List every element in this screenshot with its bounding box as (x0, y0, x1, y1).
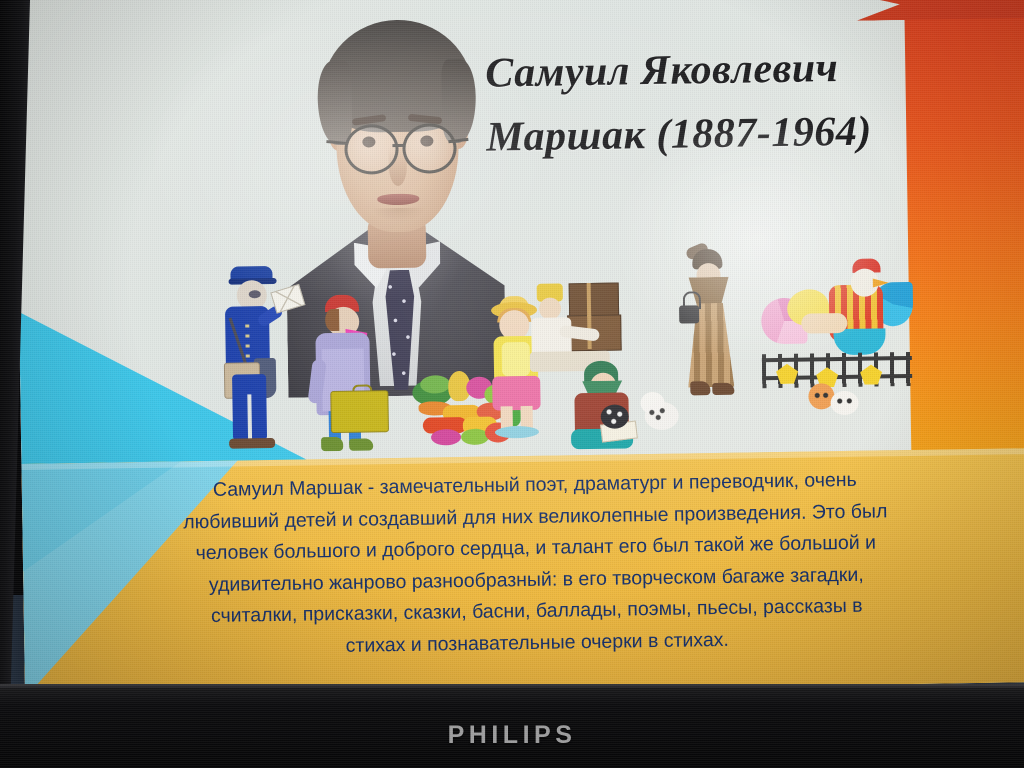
philips-brand-logo: PHILIPS (0, 721, 1024, 750)
illustration-white-cat (640, 392, 683, 433)
woman-hair (325, 309, 339, 331)
luggage-strap-upper (587, 283, 592, 317)
handbag-icon (679, 305, 699, 323)
postman-leg-gap (247, 394, 252, 440)
photograph-of-tv-screen: Самуил Яковлевич Маршак (1887-1964) (0, 0, 1024, 768)
eyeglasses-bridge (392, 144, 404, 147)
slide-body-textbox: Самуил Маршак - замечательный поэт, драм… (21, 448, 1024, 698)
portrait-hair-side-left (317, 61, 352, 146)
presentation-slide: Самуил Яковлевич Маршак (1887-1964) (14, 0, 1024, 698)
woman-shoe-left (321, 437, 343, 451)
slide-body-text: Самуил Маршак - замечательный поэт, драм… (74, 463, 999, 667)
woman-shoe-right (349, 438, 373, 450)
slide-title: Самуил Яковлевич Маршак (1887-1964) (485, 36, 907, 170)
lady-shoe-left (690, 381, 710, 395)
lady-shoe-right (712, 383, 734, 395)
rooster-skirt (833, 328, 885, 355)
illustration-woman-with-yellow-suitcase (307, 294, 386, 457)
porter-head (539, 297, 561, 319)
postman-shoes (229, 438, 275, 449)
illustration-postman-with-letter (216, 266, 285, 459)
white-kitten-eyes (836, 397, 852, 405)
reclining-figure (801, 313, 847, 334)
plum (431, 429, 461, 445)
illustration-old-woman-with-cat (566, 360, 639, 451)
boy-shoes (495, 426, 539, 439)
illustration-lady-in-plaid-dress (678, 249, 743, 410)
illustration-rooster-and-kittens (761, 278, 913, 430)
illustration-stage: Самуил Яковлевич Маршак (1887-1964) (14, 0, 1024, 467)
title-line-1: Самуил Яковлевич (485, 45, 839, 97)
yellow-suitcase-icon (330, 390, 389, 433)
portrait-chin-shading (371, 208, 425, 223)
white-cat-face-markings (647, 406, 673, 422)
ginger-kitten-eyes (814, 391, 828, 399)
title-line-2: Маршак (1887-1964) (486, 100, 907, 170)
postman-buttons (245, 324, 250, 364)
